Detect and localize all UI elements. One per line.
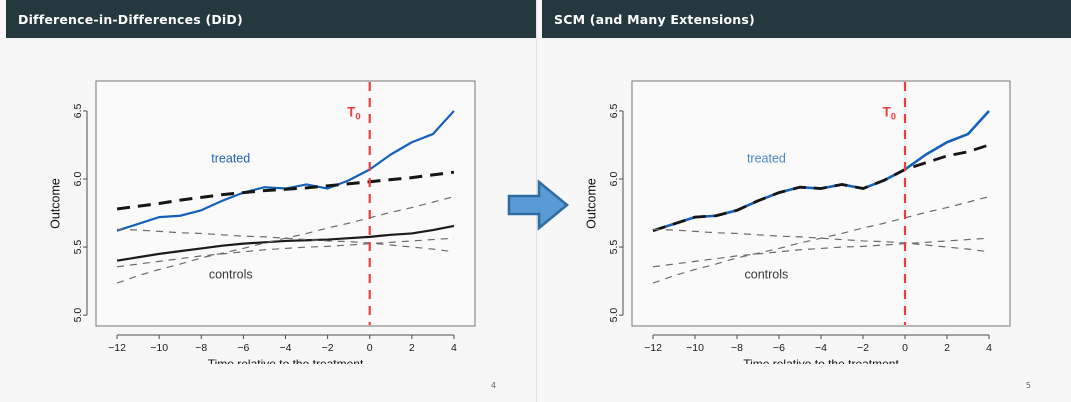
x-axis-title: Time relative to the treatment [208,357,364,364]
y-axis-tick-label: 5.0 [72,308,84,323]
y-axis-tick-label: 6.5 [72,103,84,118]
x-axis-tick-label: 4 [986,342,992,354]
x-axis-tick-label: 2 [944,342,950,354]
x-axis-tick-label: −4 [815,342,827,354]
slide-divider [536,0,537,402]
y-axis-tick-label: 5.5 [608,240,620,255]
slide-deck: Difference-in-Differences (DiD) −12−10−8… [0,0,1071,402]
y-axis-title: Outcome [584,178,598,229]
x-axis-tick-label: −6 [237,342,249,354]
x-axis-tick-label: −12 [108,342,126,354]
x-axis-tick-label: −8 [731,342,743,354]
did-chart-svg: −12−10−8−6−4−2024Time relative to the tr… [0,44,536,364]
did-chart: −12−10−8−6−4−2024Time relative to the tr… [0,44,536,364]
x-axis-title: Time relative to the treatment [743,357,899,364]
annotation-treated: treated [211,152,250,166]
x-axis-tick-label: 0 [902,342,908,354]
x-axis-tick-label: 4 [451,342,457,354]
y-axis-tick-label: 6.0 [72,172,84,187]
page-number-did: 4 [491,381,496,390]
x-axis-tick-label: −6 [773,342,785,354]
x-axis-tick-label: −2 [857,342,869,354]
slide-did-titlebar: Difference-in-Differences (DiD) [0,0,536,38]
slide-scm-title: SCM (and Many Extensions) [542,12,755,27]
x-axis-tick-label: −10 [686,342,704,354]
titlebar-underline [0,38,536,40]
y-axis-tick-label: 5.5 [72,240,84,255]
slide-scm-titlebar: SCM (and Many Extensions) [536,0,1071,38]
x-axis-tick-label: −12 [644,342,662,354]
slide-scm: SCM (and Many Extensions) −12−10−8−6−4−2… [536,0,1071,402]
y-axis-tick-label: 5.0 [608,308,620,323]
x-axis-tick-label: −8 [195,342,207,354]
x-axis-tick-label: 2 [409,342,415,354]
scm-chart: −12−10−8−6−4−2024Time relative to the tr… [536,44,1071,364]
plot-panel [96,81,475,326]
slide-did: Difference-in-Differences (DiD) −12−10−8… [0,0,536,402]
y-axis-tick-label: 6.0 [608,172,620,187]
scm-chart-svg: −12−10−8−6−4−2024Time relative to the tr… [536,44,1071,364]
x-axis-tick-label: −4 [280,342,292,354]
x-axis-tick-label: 0 [367,342,373,354]
titlebar-underline [536,38,1071,40]
plot-panel [632,81,1010,326]
y-axis-title: Outcome [48,178,62,229]
page-number-scm: 5 [1026,381,1031,390]
annotation-controls: controls [209,267,253,281]
annotation-treated: treated [747,152,786,166]
x-axis-tick-label: −2 [322,342,334,354]
annotation-controls: controls [745,267,789,281]
slide-did-title: Difference-in-Differences (DiD) [6,12,243,27]
y-axis-tick-label: 6.5 [608,103,620,118]
x-axis-tick-label: −10 [150,342,168,354]
